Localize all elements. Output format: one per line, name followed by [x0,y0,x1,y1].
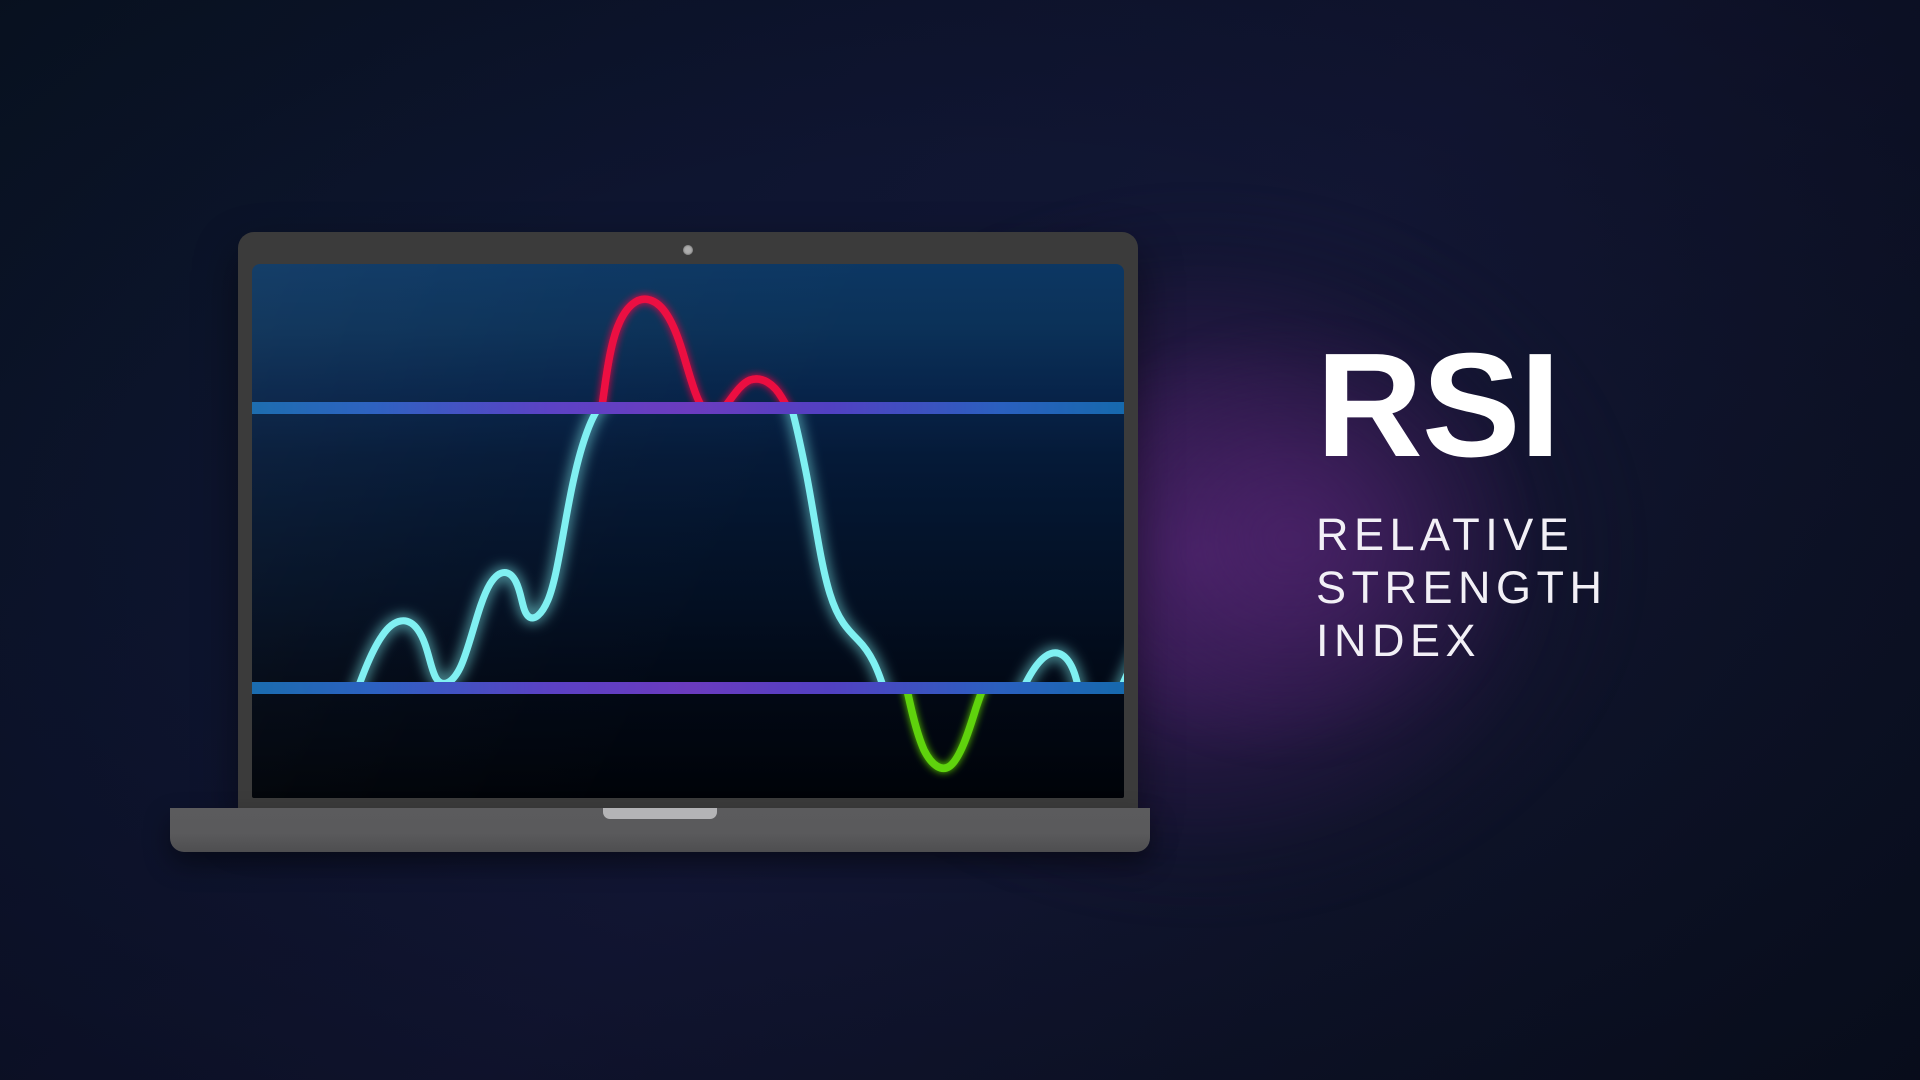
laptop-illustration [170,232,1150,852]
laptop-base [170,808,1150,852]
branding-text-block: RSI RELATIVE STRENGTH INDEX [1316,338,1776,667]
poster-stage: RSI RELATIVE STRENGTH INDEX [0,0,1920,1080]
band-overbought [252,402,1124,414]
laptop-lid [238,232,1138,812]
subtitle-line-2: STRENGTH [1316,561,1776,614]
page-subtitle: RELATIVE STRENGTH INDEX [1316,508,1776,667]
laptop-trackpad-notch [603,808,717,819]
band-oversold [252,682,1124,694]
laptop-screen [252,264,1124,798]
rsi-line-oversold [904,660,996,768]
subtitle-line-1: RELATIVE [1316,508,1776,561]
subtitle-line-3: INDEX [1316,614,1776,667]
rsi-line-neutral [348,396,1124,784]
rsi-chart [252,264,1124,798]
page-title: RSI [1316,338,1776,474]
webcam-icon [683,245,693,255]
